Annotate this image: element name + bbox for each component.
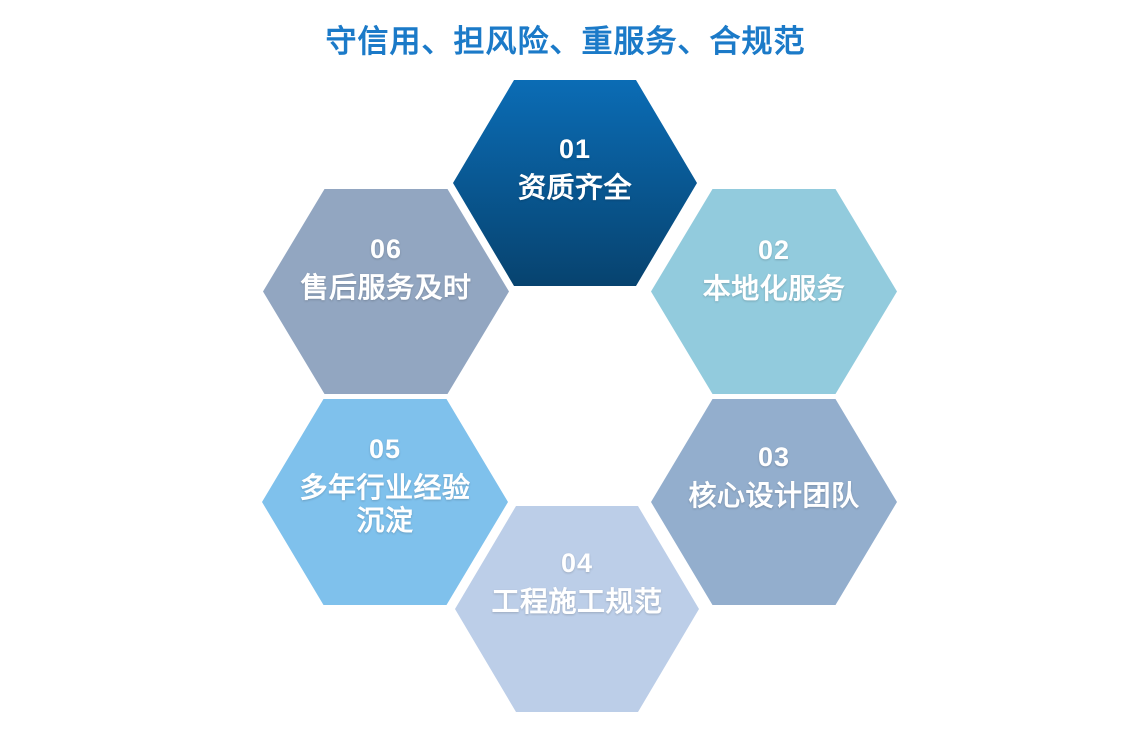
hexagon-content-05: 05 多年行业经验沉淀	[262, 399, 508, 537]
hexagon-number-04: 04	[561, 550, 593, 577]
hexagon-number-03: 03	[758, 444, 790, 471]
hexagon-content-03: 03 核心设计团队	[651, 399, 897, 512]
hexagon-number-06: 06	[370, 236, 402, 263]
hexagon-label-01: 资质齐全	[502, 171, 648, 204]
hexagon-label-03: 核心设计团队	[672, 479, 875, 512]
hexagon-content-01: 01 资质齐全	[453, 80, 697, 204]
hexagon-item-06[interactable]: 06 售后服务及时	[263, 189, 509, 394]
hexagon-label-04: 工程施工规范	[475, 585, 678, 618]
hexagon-label-05: 多年行业经验沉淀	[262, 471, 508, 537]
hexagon-item-03[interactable]: 03 核心设计团队	[651, 399, 897, 605]
hexagon-number-02: 02	[758, 237, 790, 264]
hexagon-content-02: 02 本地化服务	[651, 189, 897, 305]
slide-canvas: 守信用、担风险、重服务、合规范 01 资质齐全 02 本地化服务 03 核心设计…	[0, 0, 1131, 739]
hexagon-item-04[interactable]: 04 工程施工规范	[455, 506, 699, 712]
hexagon-honeycomb: 01 资质齐全 02 本地化服务 03 核心设计团队 04 工程施工规范	[0, 0, 1131, 739]
hexagon-item-01[interactable]: 01 资质齐全	[453, 80, 697, 286]
hexagon-number-05: 05	[369, 436, 401, 463]
hexagon-item-05[interactable]: 05 多年行业经验沉淀	[262, 399, 508, 605]
hexagon-label-06: 售后服务及时	[284, 271, 487, 304]
hexagon-item-02[interactable]: 02 本地化服务	[651, 189, 897, 394]
hexagon-label-02: 本地化服务	[687, 272, 862, 305]
hexagon-number-01: 01	[559, 136, 591, 163]
